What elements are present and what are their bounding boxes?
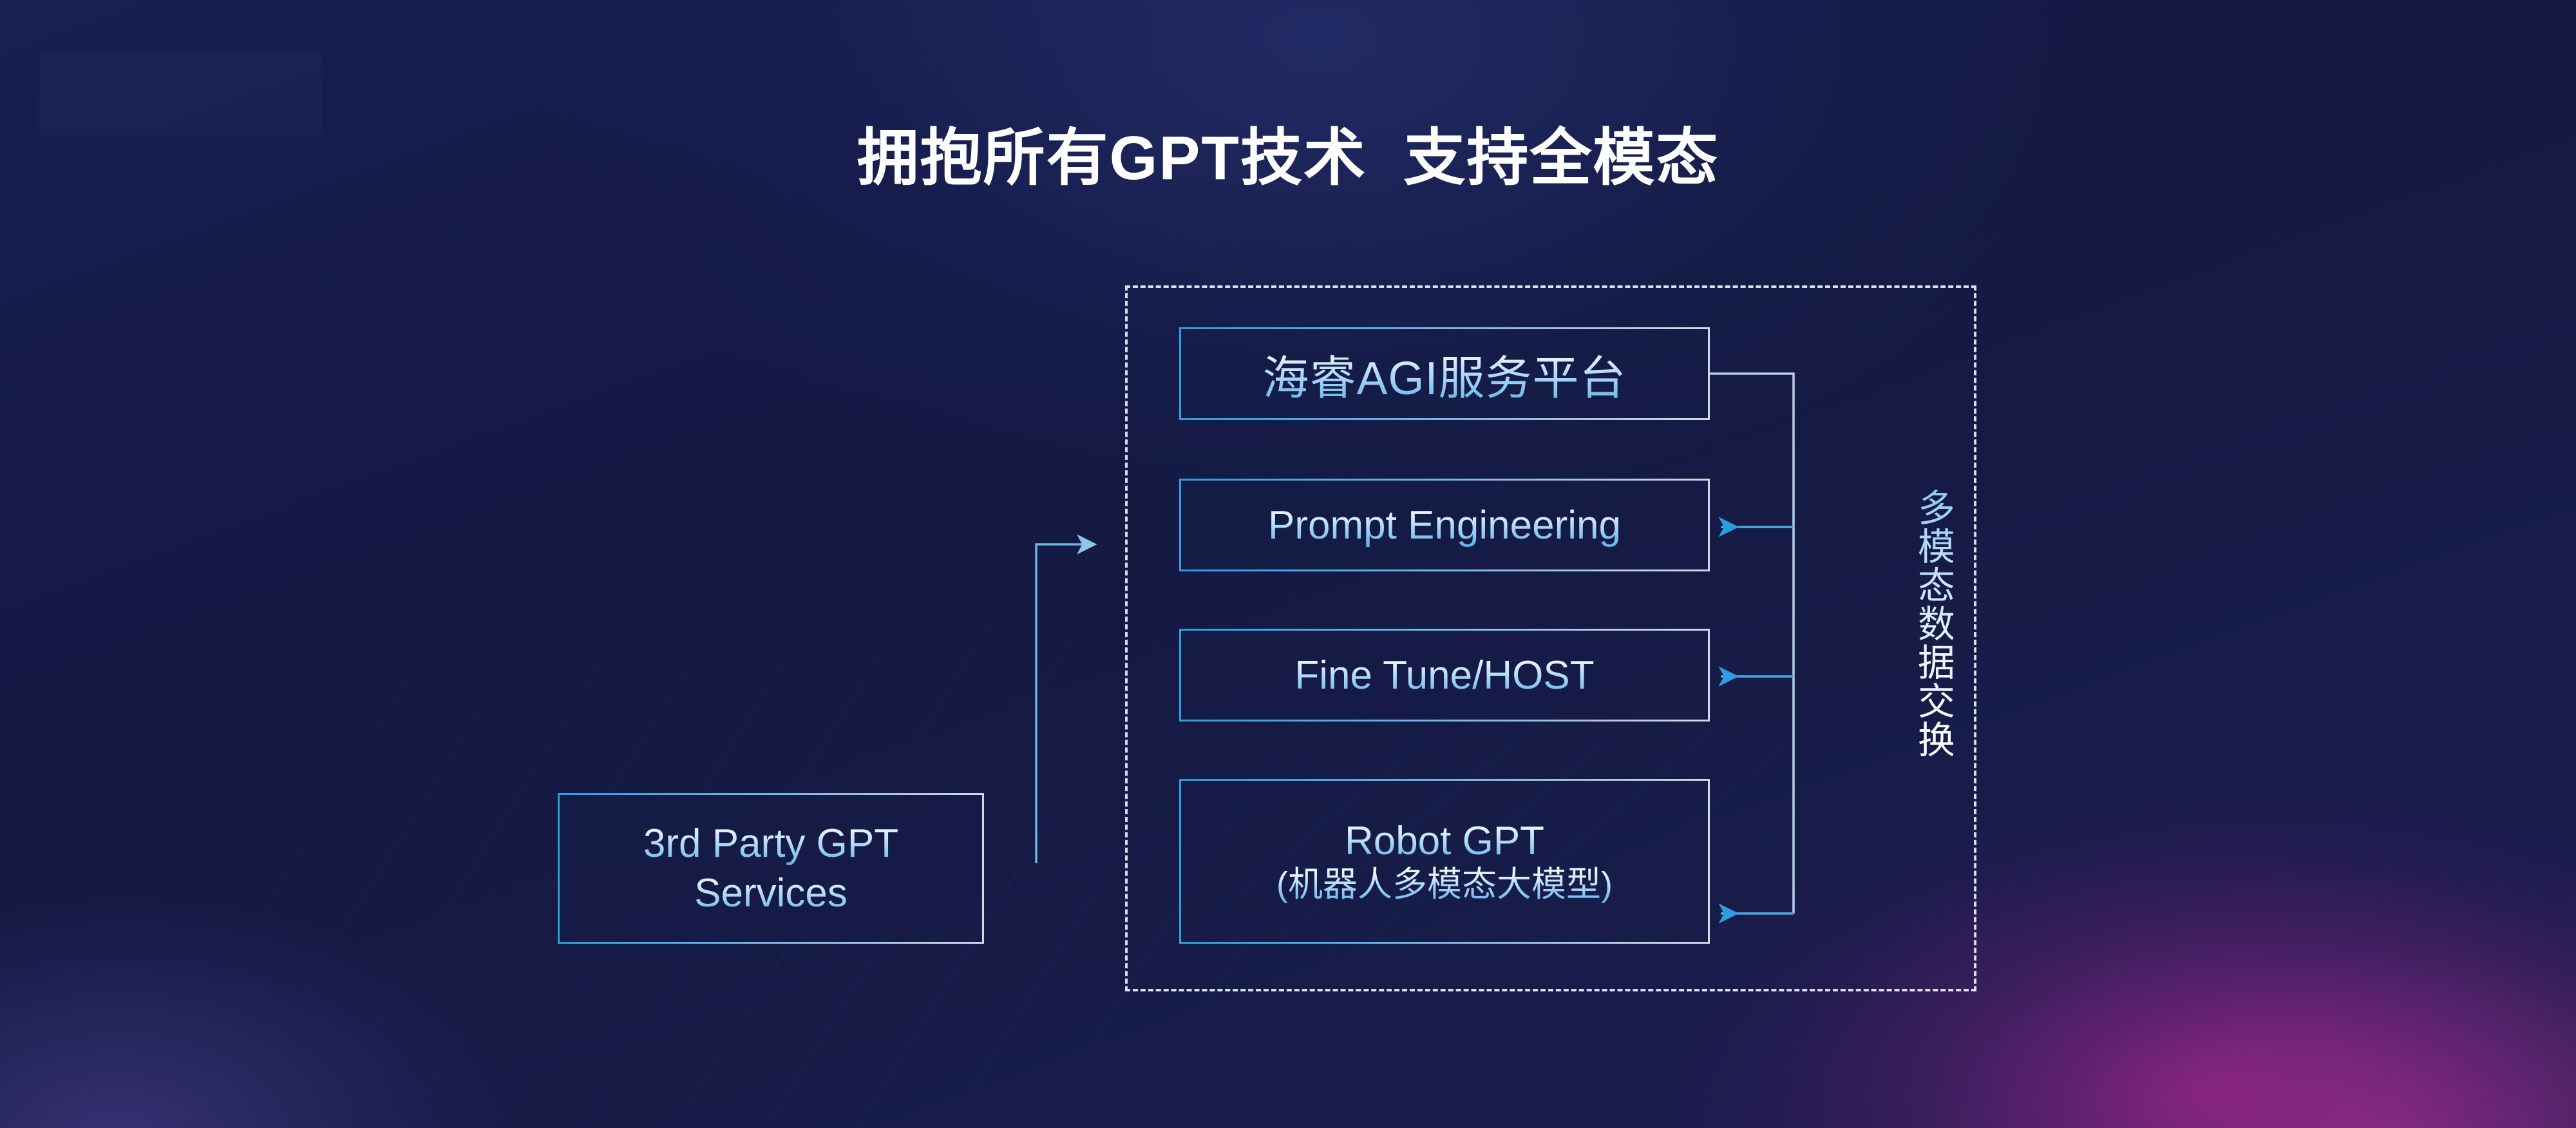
robot-gpt-box[interactable]: Robot GPT (机器人多模态大模型): [1179, 779, 1710, 944]
prompt-engineering-box[interactable]: Prompt Engineering: [1179, 479, 1710, 571]
third-party-gpt-box[interactable]: 3rd Party GPT Services: [558, 793, 984, 944]
robot-gpt-label: Robot GPT: [1345, 817, 1544, 865]
page-title: 拥抱所有GPT技术 支持全模态: [0, 126, 2576, 191]
multimodal-data-exchange-label: 多模态数据交换: [1908, 488, 1953, 759]
third-party-gpt-sublabel: Services: [694, 868, 848, 919]
platform-box[interactable]: 海睿AGI服务平台: [1179, 327, 1710, 420]
platform-box-label: 海睿AGI服务平台: [1262, 340, 1626, 408]
fine-tune-host-label: Fine Tune/HOST: [1294, 653, 1594, 698]
third-party-gpt-label: 3rd Party GPT: [643, 819, 898, 869]
prompt-engineering-label: Prompt Engineering: [1268, 502, 1621, 548]
robot-gpt-sublabel: (机器人多模态大模型): [1276, 865, 1613, 906]
background-accent-rect: [39, 52, 322, 135]
fine-tune-host-box[interactable]: Fine Tune/HOST: [1179, 629, 1710, 722]
